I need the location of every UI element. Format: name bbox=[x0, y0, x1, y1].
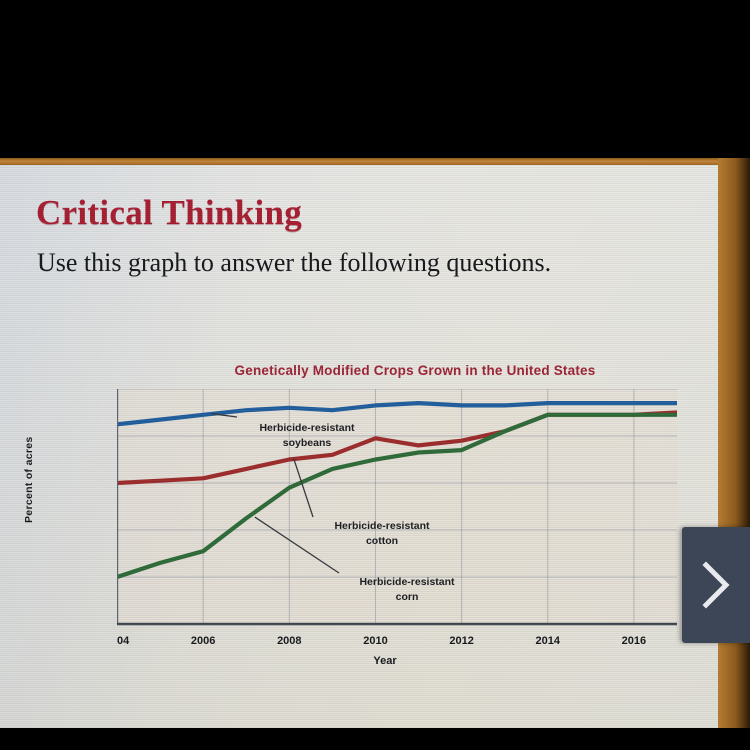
page-edge-top bbox=[0, 158, 732, 165]
chart-svg: 020406080100 200420062008201020122014201… bbox=[117, 389, 677, 654]
x-tick-label: 2004 bbox=[117, 635, 130, 647]
annotation-label: corn bbox=[396, 591, 419, 603]
screenshot-root: Critical Thinking Use this graph to answ… bbox=[0, 0, 750, 750]
annotation-label: cotton bbox=[366, 535, 398, 547]
x-tick-label: 2006 bbox=[191, 635, 215, 647]
x-tick-label: 2010 bbox=[363, 635, 387, 647]
annotation-label: soybeans bbox=[283, 437, 332, 449]
annotation-label: Herbicide-resistant bbox=[334, 520, 430, 532]
chart-x-axis-label: Year bbox=[235, 655, 535, 667]
x-tick-label: 2008 bbox=[277, 635, 301, 647]
annotation-label: Herbicide-resistant bbox=[359, 576, 455, 588]
annotation-label: Herbicide-resistant bbox=[259, 422, 355, 434]
letterbox-top bbox=[0, 0, 750, 158]
x-tick-label: 2012 bbox=[449, 635, 473, 647]
x-tick-label: 2016 bbox=[622, 635, 646, 647]
page-title: Critical Thinking bbox=[36, 193, 302, 233]
chart-plot-area: 020406080100 200420062008201020122014201… bbox=[117, 389, 677, 624]
worksheet-page: Critical Thinking Use this graph to answ… bbox=[0, 158, 750, 728]
letterbox-bottom bbox=[0, 728, 750, 750]
plot-background bbox=[117, 389, 677, 624]
chart-container: Genetically Modified Crops Grown in the … bbox=[55, 363, 685, 513]
chart-y-axis-label: Percent of acres bbox=[23, 436, 35, 523]
chevron-right-icon bbox=[696, 557, 736, 613]
x-axis-ticks: 2004200620082010201220142016 bbox=[117, 635, 646, 647]
instructions-text: Use this graph to answer the following q… bbox=[37, 246, 597, 281]
chart-title: Genetically Modified Crops Grown in the … bbox=[165, 363, 665, 378]
x-tick-label: 2014 bbox=[536, 635, 561, 647]
next-page-button[interactable] bbox=[682, 527, 750, 643]
